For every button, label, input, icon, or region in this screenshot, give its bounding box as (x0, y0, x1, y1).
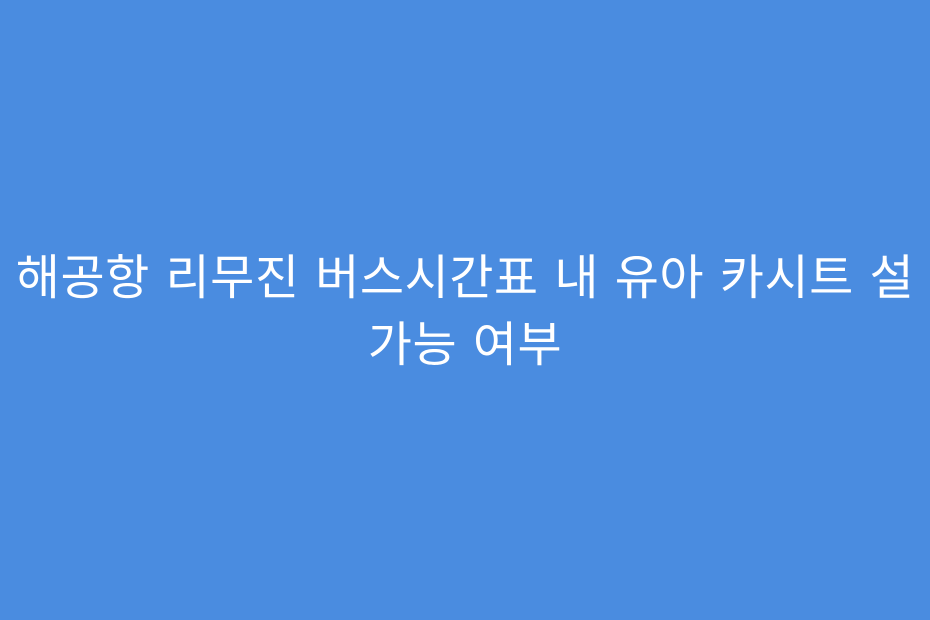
headline: 해공항 리무진 버스시간표 내 유아 카시트 설 가능 여부 (0, 245, 930, 379)
headline-line-2: 가능 여부 (0, 312, 930, 379)
title-card: 해공항 리무진 버스시간표 내 유아 카시트 설 가능 여부 (0, 0, 930, 620)
headline-line-1: 해공항 리무진 버스시간표 내 유아 카시트 설 (0, 245, 930, 312)
